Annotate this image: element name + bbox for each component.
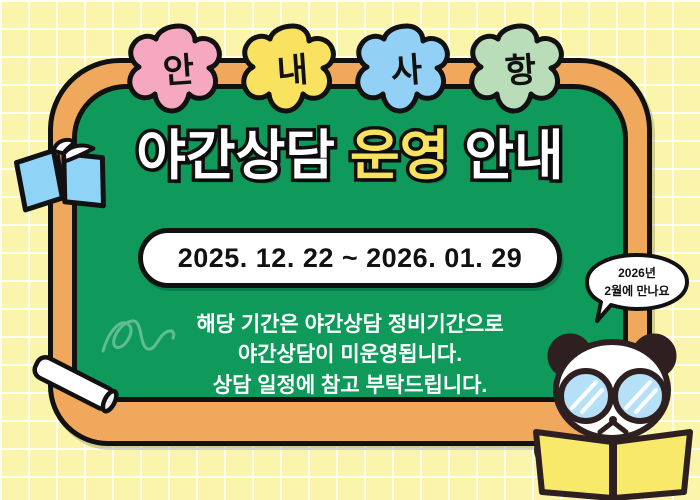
title-space-2	[449, 126, 464, 186]
title-part-1: 야간상담	[136, 126, 335, 186]
flower-badge-2: 내	[241, 20, 345, 120]
flower-badge-label: 항	[504, 53, 538, 89]
flower-badge-1: 안	[127, 20, 231, 120]
open-book-icon	[8, 127, 114, 223]
title-space-1	[335, 126, 350, 186]
flower-badge-label: 사	[390, 53, 424, 89]
speech-bubble-text: 2026년 2월에 만나요	[583, 264, 691, 300]
flower-badge-4: 항	[469, 20, 573, 120]
flower-badge-label: 내	[276, 53, 310, 89]
panda-reading-icon	[528, 322, 700, 500]
title-part-2: 운영	[350, 126, 449, 186]
flower-badge-3: 사	[355, 20, 459, 120]
chalk-stick-icon	[22, 352, 126, 414]
title-part-3: 안내	[464, 126, 563, 186]
speech-line-1: 2026년	[583, 264, 691, 282]
flower-badge-label: 안	[162, 53, 196, 89]
flower-badge-row: 안 내 사 항	[0, 18, 700, 122]
date-range-text: 2025. 12. 22 ~ 2026. 01. 29	[178, 243, 523, 274]
speech-bubble: 2026년 2월에 만나요	[583, 252, 691, 324]
speech-line-2: 2월에 만나요	[583, 282, 691, 300]
date-range-pill: 2025. 12. 22 ~ 2026. 01. 29	[138, 228, 562, 288]
poster-canvas: 안 내 사 항 야간상담 운영 안내 2025. 12. 22 ~ 2026. …	[0, 0, 700, 500]
